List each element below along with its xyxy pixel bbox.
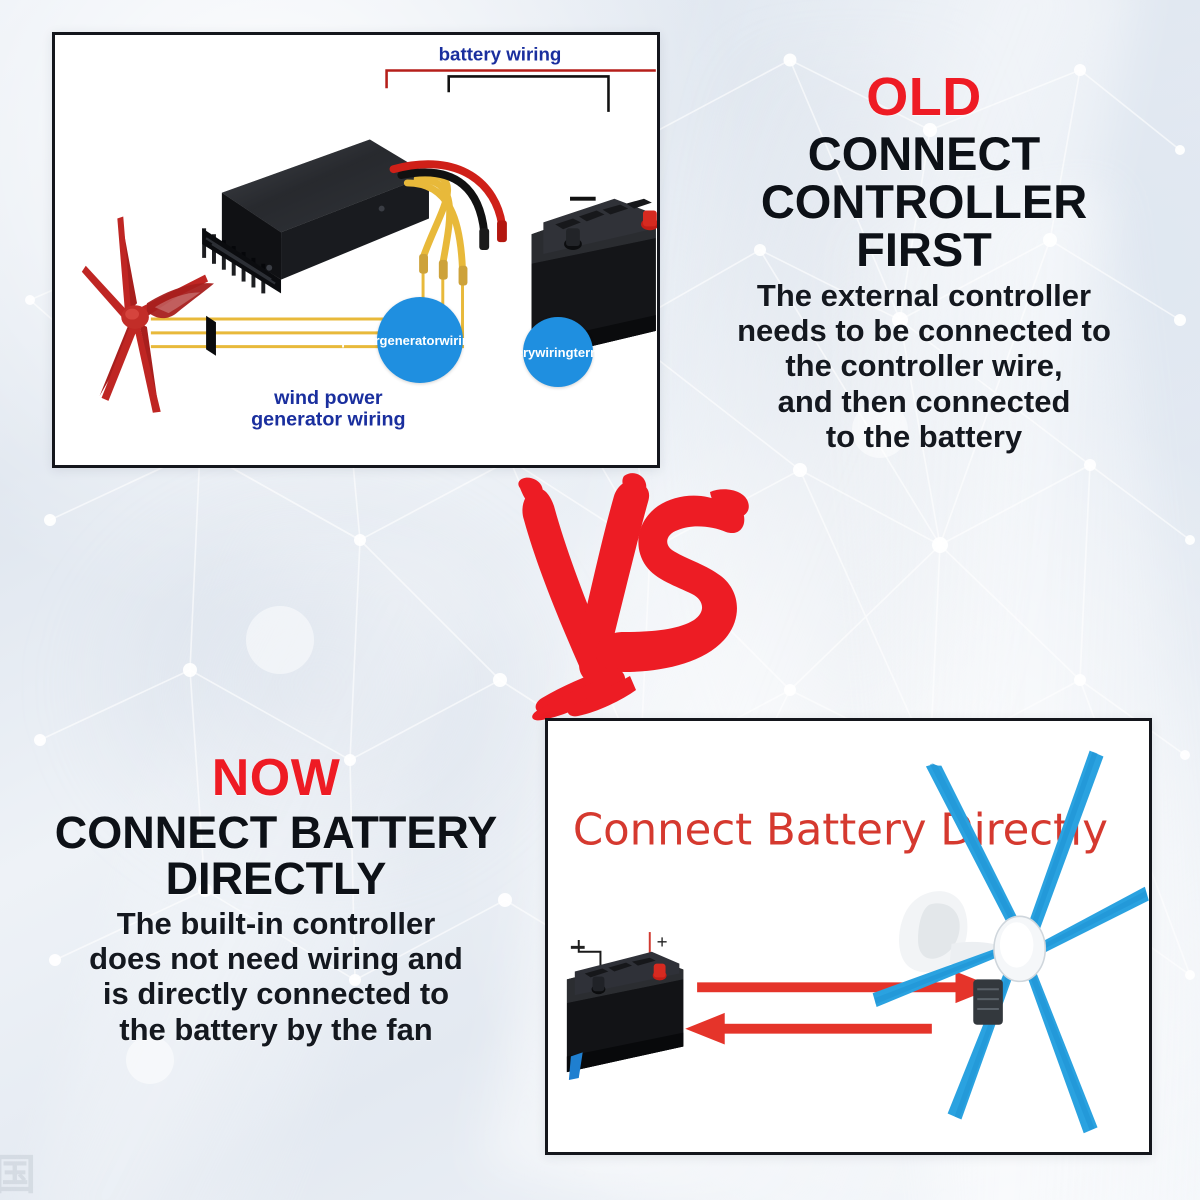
battery-plus-label: + <box>657 931 668 952</box>
old-headline-line-2: CONTROLLER <box>660 178 1188 226</box>
label-generator-wiring-2: generator wiring <box>251 409 405 431</box>
old-body-line-4: and then connected <box>660 384 1188 419</box>
old-body-line-3: the controller wire, <box>660 348 1188 383</box>
old-body-copy: The external controller needs to be conn… <box>660 278 1188 455</box>
old-headline: CONNECT CONTROLLER FIRST <box>660 130 1188 274</box>
now-headline-line-2: DIRECTLY <box>12 856 540 902</box>
now-body-line-4: the battery by the fan <box>12 1012 540 1047</box>
now-body-line-1: The built-in controller <box>12 906 540 941</box>
old-body-line-5: to the battery <box>660 419 1188 454</box>
old-wiring-illustration: battery wiring wind power generator wiri… <box>55 35 657 465</box>
old-body-line-2: needs to be connected to <box>660 313 1188 348</box>
old-wiring-diagram-panel: battery wiring wind power generator wiri… <box>52 32 660 468</box>
connect-battery-directly-title: Connect Battery Directly <box>573 805 1108 855</box>
new-wiring-diagram-panel: Connect Battery Directly + <box>545 718 1152 1155</box>
label-battery-wiring: battery wiring <box>439 44 562 65</box>
old-text-block: OLD CONNECT CONTROLLER FIRST The externa… <box>660 70 1188 454</box>
callout-battery-wiring-terminal: batterywiringterminal <box>523 317 593 387</box>
now-body-line-2: does not need wiring and <box>12 941 540 976</box>
now-kicker: NOW <box>12 752 540 804</box>
infographic-canvas: battery wiring wind power generator wiri… <box>0 0 1200 1200</box>
now-body-line-3: is directly connected to <box>12 976 540 1011</box>
old-kicker: OLD <box>660 70 1188 124</box>
now-text-block: NOW CONNECT BATTERY DIRECTLY The built-i… <box>12 752 540 1047</box>
now-body-copy: The built-in controller does not need wi… <box>12 906 540 1047</box>
now-headline: CONNECT BATTERY DIRECTLY <box>12 810 540 902</box>
watermark: 国 <box>0 1154 38 1196</box>
old-headline-line-3: FIRST <box>660 226 1188 274</box>
old-headline-line-1: CONNECT <box>660 130 1188 178</box>
callout-generator-wiring-terminal: windpowergeneratorwiringterminal <box>377 297 463 383</box>
now-headline-line-1: CONNECT BATTERY <box>12 810 540 856</box>
label-generator-wiring-1: wind power <box>273 387 383 409</box>
versus-brush-icon <box>498 472 758 722</box>
old-body-line-1: The external controller <box>660 278 1188 313</box>
new-wiring-illustration: Connect Battery Directly + <box>548 721 1149 1152</box>
